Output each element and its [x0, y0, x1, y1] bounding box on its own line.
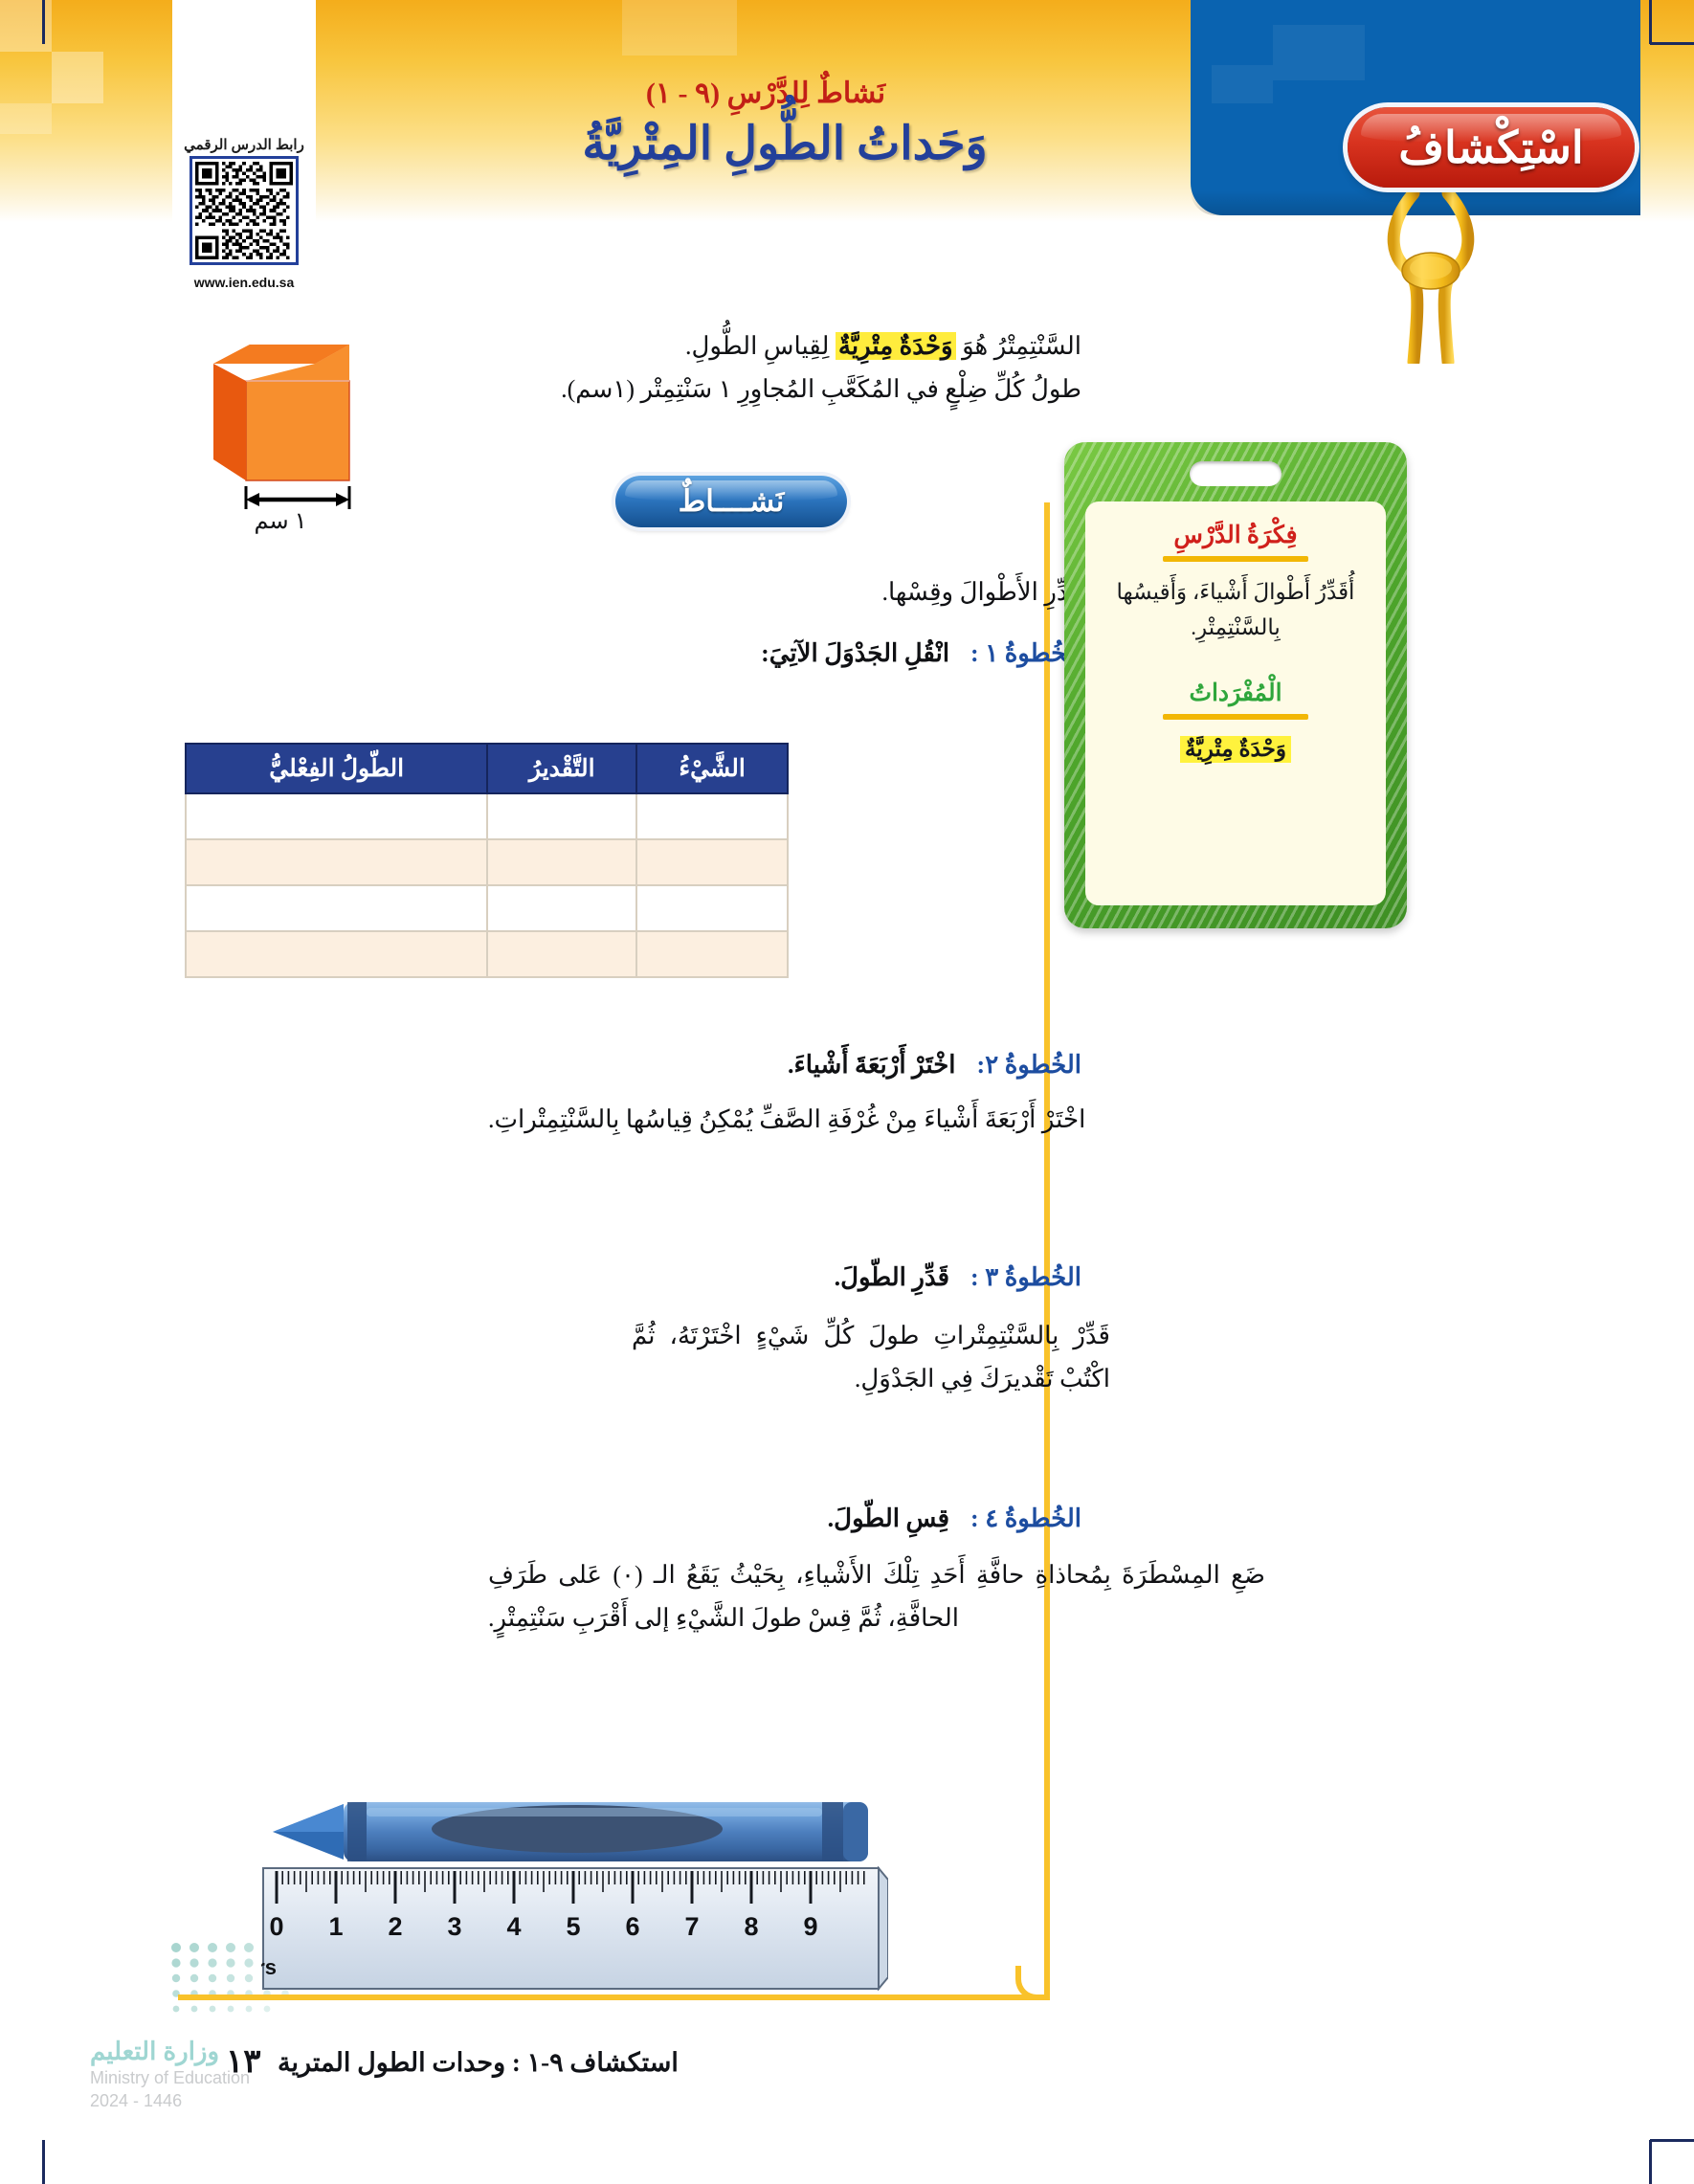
explore-badge: اسْتِكْشافُ: [1348, 107, 1635, 188]
crop-mark: [1649, 0, 1652, 44]
cube-left-face: [213, 364, 246, 480]
crop-mark: [42, 0, 45, 44]
svg-text:4: 4: [506, 1912, 521, 1941]
crayon-band: [822, 1802, 843, 1861]
activity-banner: نَشــــاطٌ: [615, 476, 847, 527]
ruler-unit-label: centimeters: [261, 1955, 277, 1979]
step-head-1: انْقُلِ الجَدْوَلَ الآتِيَ:: [660, 639, 949, 668]
intro-line1-part-a: السَّنْتِمِتْرُ هُوَ: [956, 332, 1081, 360]
blue-crayon-illustration: [252, 1794, 883, 1869]
table-cell[interactable]: [186, 839, 487, 885]
crop-mark: [42, 2140, 45, 2184]
panel-square: [1212, 65, 1273, 103]
step-para-4: ضَعِ المِسْطَرَةَ بِمُحاذاةِ حافَّةِ أَح…: [488, 1554, 1265, 1639]
table-row: [186, 931, 788, 977]
ruler-edge: [879, 1868, 888, 1989]
page-title: وَحَداتُ الطُّولِ المِتْرِيَّةُ: [412, 117, 1158, 170]
svg-text:1: 1: [328, 1912, 343, 1941]
table-cell[interactable]: [487, 839, 636, 885]
qr-url-text: www.ien.edu.sa: [172, 275, 316, 290]
crop-mark: [1650, 2139, 1694, 2142]
svg-text:7: 7: [684, 1912, 699, 1941]
table-cell[interactable]: [186, 885, 487, 931]
table-cell[interactable]: [487, 885, 636, 931]
heading-underline: [1163, 714, 1308, 720]
explore-badge-label: اسْتِكْشافُ: [1398, 122, 1583, 173]
lesson-idea-card: فِكْرَةُ الدَّرْسِ أُقَدِّرُ أَطْوالَ أَ…: [1064, 442, 1407, 928]
table-cell[interactable]: [636, 793, 788, 839]
step-head-3: قَدِّرِ الطّولَ.: [660, 1263, 949, 1292]
step-row-1: الخُطوةُ ١ : انْقُلِ الجَدْوَلَ الآتِيَ:: [660, 639, 1081, 668]
step-head-2: اخْتَرْ أَرْبَعَةَ أَشْياءَ.: [660, 1051, 956, 1080]
step-para-2: اخْتَرْ أَرْبَعَةَ أَشْياءَ مِنْ غُرْفَة…: [488, 1099, 1265, 1142]
table-header-estimate: التَّقْديرُ: [487, 744, 636, 793]
table-cell[interactable]: [186, 931, 487, 977]
vocabulary-term: وَحْدَةٌ مِتْرِيَّةٌ: [1180, 736, 1291, 763]
side-rail-horizontal: [178, 1995, 1049, 2000]
step-label-2: الخُطوةُ ٢:: [977, 1051, 1081, 1080]
orange-cube-figure: [204, 337, 357, 509]
band-square: [52, 52, 103, 103]
intro-highlight-term: وَحْدَةٌ مِتْرِيَّةٌ: [836, 332, 956, 360]
centimeter-ruler: 0123456789 centimeters: [261, 1866, 888, 1991]
vocabulary-heading: الْمُفْرَداتُ: [1103, 679, 1369, 707]
lesson-idea-body: أُقَدِّرُ أَطْوالَ أَشْياءَ، وَأَقيسُها …: [1103, 574, 1369, 646]
table-row: [186, 793, 788, 839]
activity-lead-text: قَدِّرِ الأَطْوالَ وقِسْها.: [660, 578, 1081, 607]
svg-text:6: 6: [625, 1912, 639, 1941]
step-label-3: الخُطوةُ ٣ :: [970, 1263, 1081, 1292]
table-header-actual: الطّولُ الفِعْليُّ: [186, 744, 487, 793]
table-row: [186, 839, 788, 885]
svg-text:2: 2: [388, 1912, 402, 1941]
svg-text:0: 0: [269, 1912, 283, 1941]
lesson-idea-heading: فِكْرَةُ الدَّرْسِ: [1103, 521, 1369, 549]
crop-mark: [1650, 42, 1694, 45]
table-header-object: الشَّيْءُ: [636, 744, 788, 793]
step-para-3: قَدِّرْ بِالسَّنْتِمِتْراتِ طولَ كُلِّ ش…: [632, 1315, 1110, 1400]
card-hole: [1190, 461, 1282, 486]
svg-text:5: 5: [566, 1912, 580, 1941]
watermark-year: 2024 - 1446: [90, 2091, 250, 2111]
qr-label: رابط الدرس الرقمي: [172, 136, 316, 153]
table-cell[interactable]: [487, 793, 636, 839]
band-square: [622, 0, 737, 56]
table-cell[interactable]: [636, 839, 788, 885]
table-cell[interactable]: [636, 885, 788, 931]
step-head-4: قِسِ الطّولَ.: [660, 1504, 949, 1533]
cube-front-plane: [246, 381, 349, 480]
step-row-2: الخُطوةُ ٢: اخْتَرْ أَرْبَعَةَ أَشْياءَ.: [660, 1051, 1081, 1080]
activity-banner-label: نَشــــاطٌ: [679, 484, 785, 519]
cube-dimension-label: ١ سم: [204, 507, 357, 535]
intro-line2: طولُ كُلِّ ضِلْعٍ في المُكَعَّبِ المُجاو…: [431, 368, 1081, 412]
intro-line1-part-b: لِقِياسِ الطُّولِ.: [685, 332, 836, 360]
crayon-band: [347, 1802, 367, 1861]
measurement-table: الشَّيْءُ التَّقْديرُ الطّولُ الفِعْليُّ: [185, 743, 789, 978]
svg-text:9: 9: [803, 1912, 817, 1941]
gold-rope-decoration: [1373, 191, 1488, 364]
heading-underline: [1163, 556, 1308, 562]
qr-code-svg: [195, 162, 293, 259]
intro-paragraph: السَّنْتِمِتْرُ هُوَ وَحْدَةٌ مِتْرِيَّة…: [431, 325, 1081, 411]
step-row-3: الخُطوةُ ٣ : قَدِّرِ الطّولَ.: [660, 1263, 1081, 1292]
panel-square: [1273, 25, 1365, 80]
table-header-row: الشَّيْءُ التَّقْديرُ الطّولُ الفِعْليُّ: [186, 744, 788, 793]
lesson-kicker: نَشاطٌ لِلدَّرْسِ (٩ - ١): [412, 77, 1120, 110]
page-number: ١٣: [226, 2042, 261, 2081]
footer-lesson-title: استكشاف ٩-١ : وحدات الطول المترية: [278, 2048, 679, 2078]
svg-text:3: 3: [447, 1912, 461, 1941]
step-label-4: الخُطوةُ ٤ :: [970, 1504, 1081, 1533]
table-cell[interactable]: [487, 931, 636, 977]
table-row: [186, 885, 788, 931]
table-cell[interactable]: [636, 931, 788, 977]
qr-code-icon[interactable]: [189, 156, 299, 265]
band-square: [0, 103, 52, 134]
step-row-4: الخُطوةُ ٤ : قِسِ الطّولَ.: [660, 1504, 1081, 1533]
svg-text:8: 8: [744, 1912, 758, 1941]
crop-mark: [1649, 2140, 1652, 2184]
card-inner-panel: فِكْرَةُ الدَّرْسِ أُقَدِّرُ أَطْوالَ أَ…: [1085, 501, 1386, 905]
table-cell[interactable]: [186, 793, 487, 839]
side-rail-vertical: [1044, 502, 1050, 2000]
